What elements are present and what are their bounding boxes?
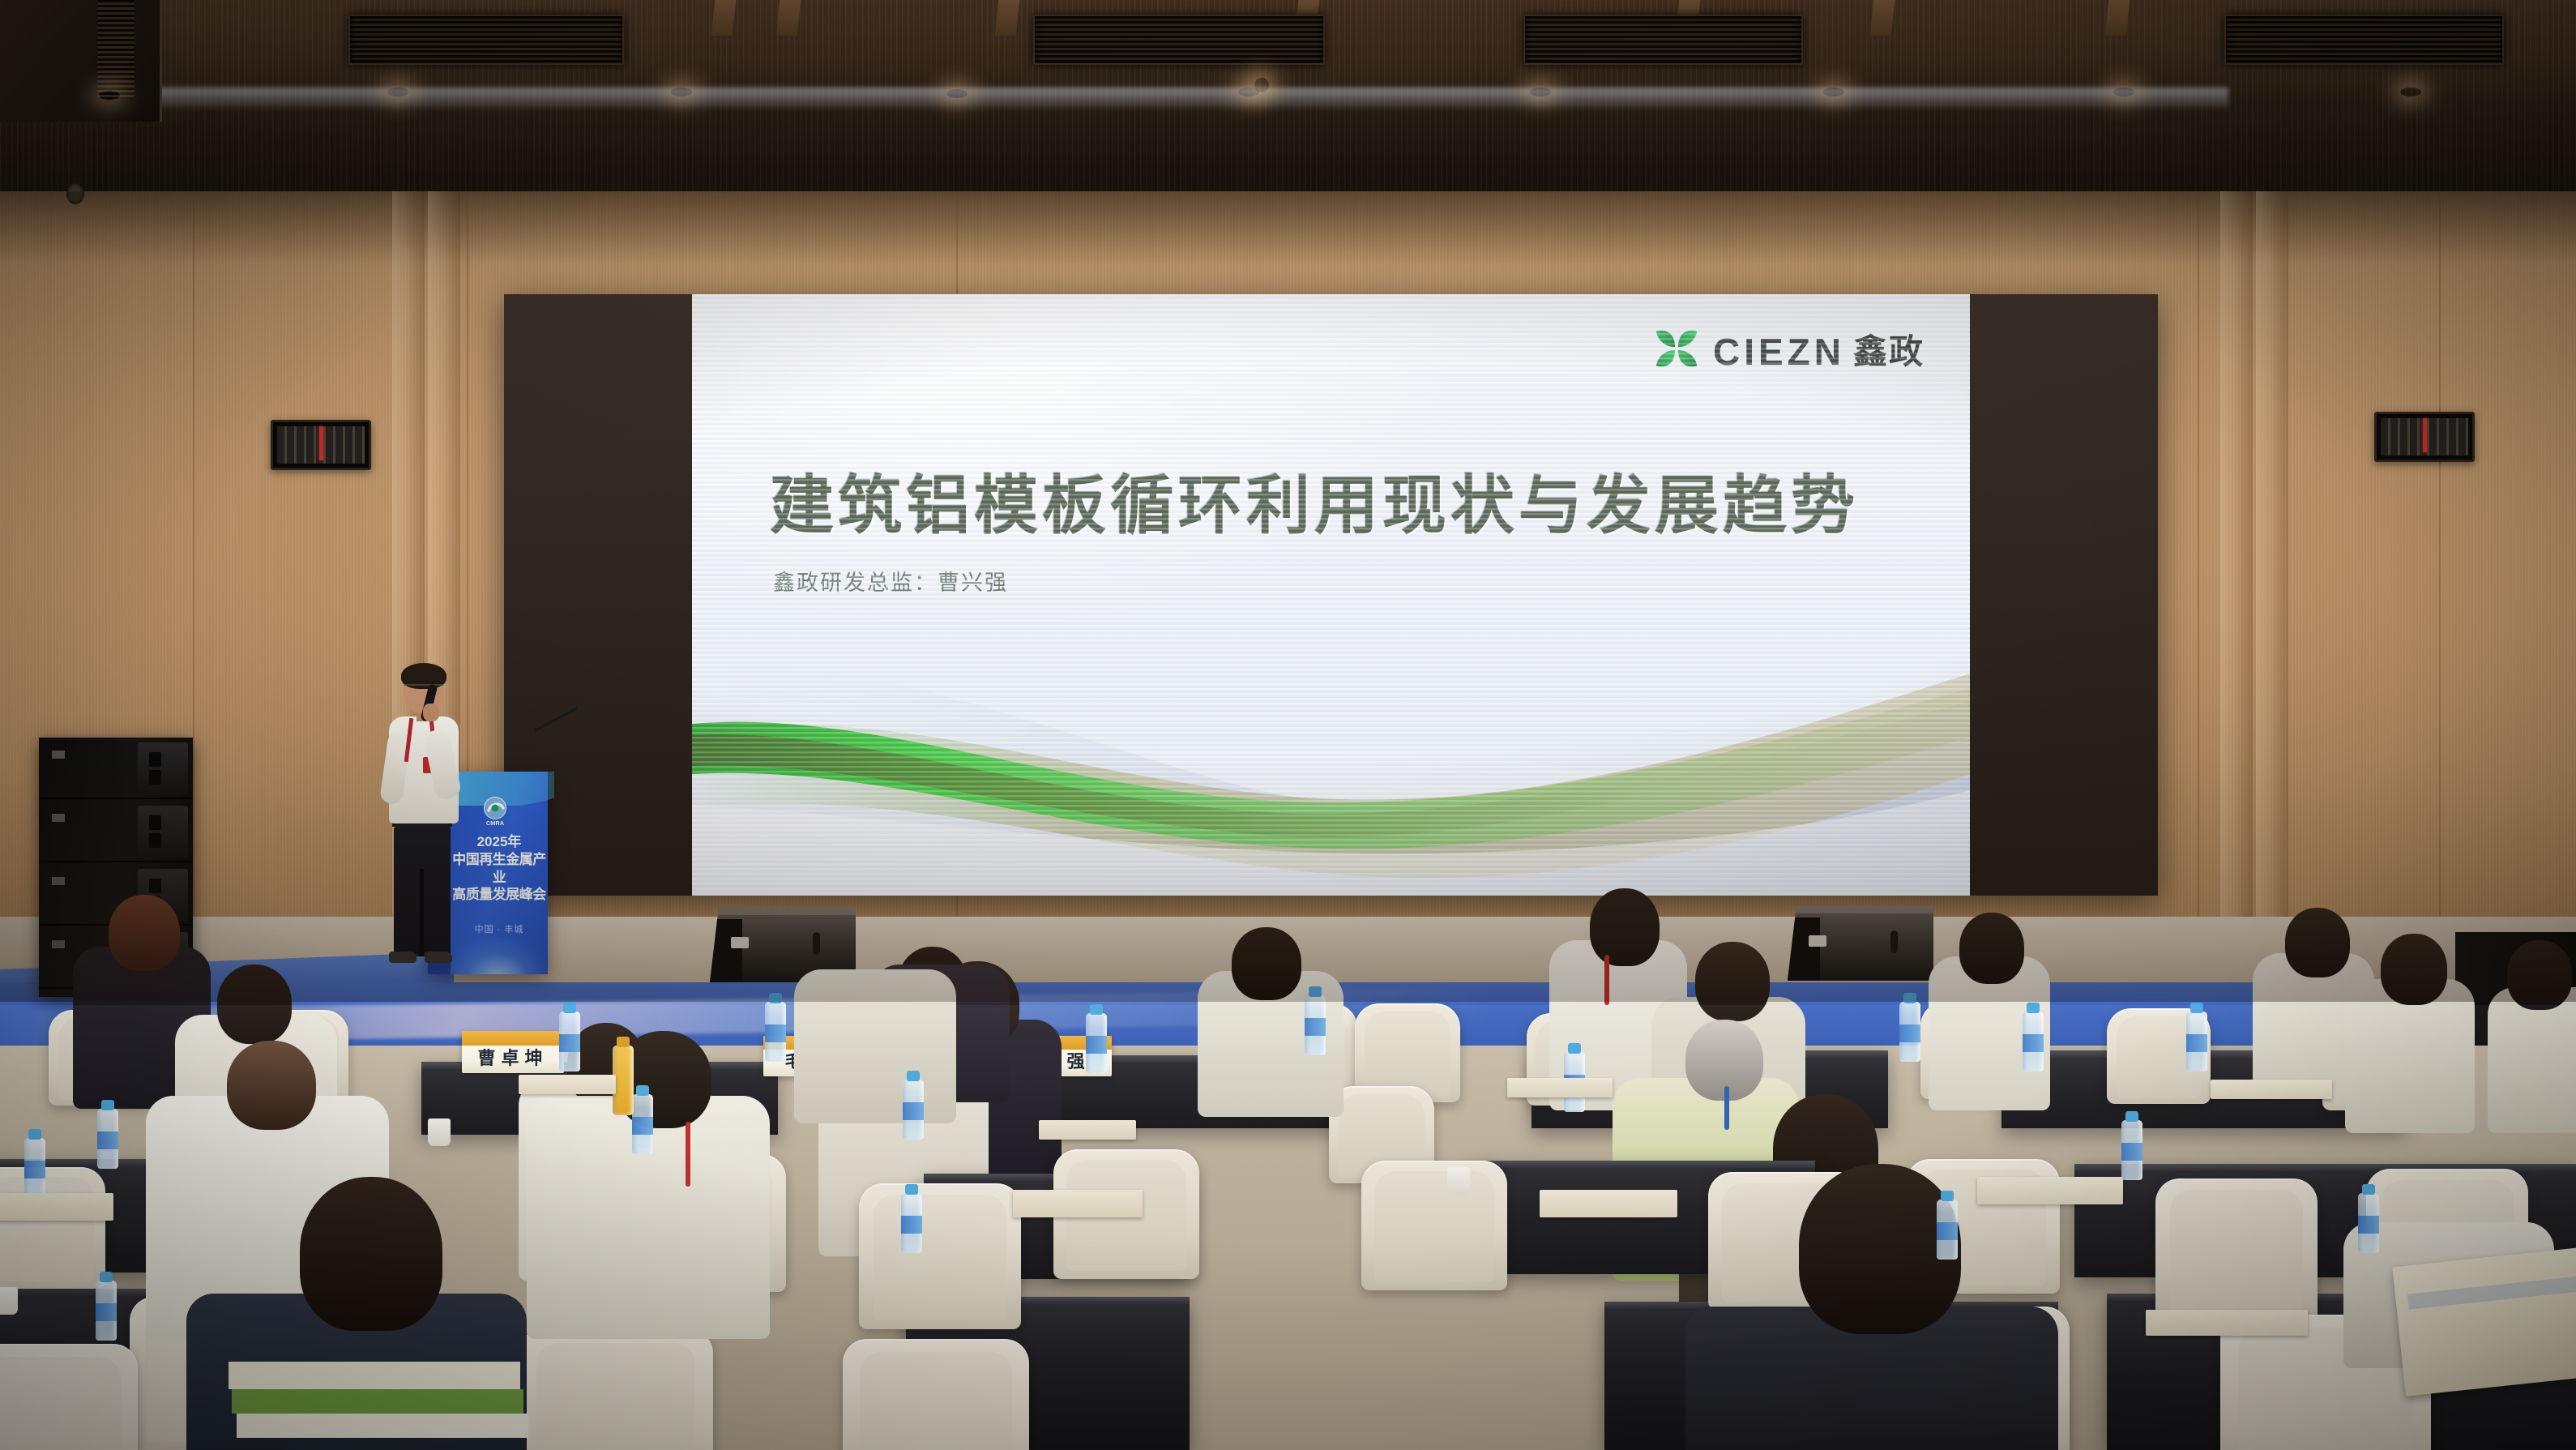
water-bottle <box>765 1002 786 1062</box>
ceiling-downlight <box>99 91 120 100</box>
conference-hall-photo: CIEZN 鑫政 建筑铝模板循环利用现状与发展趋势 鑫政研发总监：曹兴强 CMR… <box>0 0 2576 1450</box>
ceiling-downlight <box>2400 88 2421 96</box>
ceiling-downlight <box>2113 88 2134 96</box>
water-bottle <box>559 1012 580 1071</box>
ceiling-downlight <box>946 89 968 98</box>
ceiling-downlight <box>1530 88 1551 96</box>
striped-shirt-band <box>237 1414 528 1438</box>
ceiling-air-vent <box>1523 15 1803 65</box>
notepad <box>1507 1078 1613 1097</box>
paper-cup <box>0 1287 18 1315</box>
chair <box>843 1339 1029 1450</box>
chair <box>859 1183 1021 1329</box>
name-card-label: 曹卓坤 <box>477 1044 548 1073</box>
water-bottle <box>1937 1200 1958 1260</box>
ceiling-downlight <box>1823 88 1844 96</box>
ceiling-beam <box>1870 0 1895 36</box>
ceiling-downlight <box>387 88 408 96</box>
ceiling-air-vent <box>1033 15 1325 65</box>
striped-shirt-band <box>232 1389 523 1414</box>
notepad <box>1013 1190 1143 1217</box>
water-bottle <box>1305 995 1326 1055</box>
chair <box>0 1344 138 1450</box>
ceiling-cove-light <box>154 88 2228 109</box>
notepad <box>0 1193 113 1221</box>
audience-head <box>300 1177 442 1331</box>
water-bottle <box>903 1080 924 1140</box>
ceiling-beam <box>2105 0 2130 36</box>
water-bottle <box>96 1281 117 1341</box>
ceiling-left-soffit <box>0 0 162 122</box>
ceiling-beam <box>995 0 1020 36</box>
water-bottle <box>97 1109 118 1169</box>
chair <box>519 1329 713 1450</box>
name-card: 曹卓坤 <box>462 1031 564 1073</box>
water-bottle <box>2121 1120 2142 1180</box>
chair <box>2155 1178 2318 1324</box>
conference-folder <box>2392 1246 2576 1396</box>
lanyard <box>686 1122 690 1187</box>
ceiling-grille-icon <box>97 0 135 99</box>
paper-cup <box>1447 1167 1470 1195</box>
water-bottle <box>2023 1012 2044 1071</box>
water-bottle <box>2358 1193 2379 1253</box>
water-bottle <box>2186 1012 2207 1071</box>
ceiling-beam <box>776 0 801 36</box>
ceiling-downlight <box>671 88 692 96</box>
lanyard <box>1724 1086 1729 1130</box>
audience-head <box>227 1041 316 1130</box>
notepad <box>2211 1080 2332 1099</box>
water-bottle <box>901 1193 922 1253</box>
notepad <box>519 1075 616 1094</box>
notepad <box>1540 1190 1677 1217</box>
water-bottle <box>1086 1013 1107 1073</box>
ceiling-smoke-detector-icon <box>1254 78 1269 92</box>
notepad <box>1977 1177 2123 1204</box>
ceiling-air-vent <box>348 15 624 65</box>
striped-shirt-band <box>229 1362 520 1389</box>
water-bottle <box>24 1138 45 1198</box>
water-bottle <box>1899 1002 1920 1062</box>
ceiling-air-vent <box>2224 15 2504 65</box>
wall-vignette <box>0 191 2576 1002</box>
paper-cup <box>428 1119 451 1146</box>
water-bottle <box>632 1094 653 1154</box>
chair <box>1361 1161 1507 1290</box>
notepad <box>2146 1310 2308 1336</box>
chair <box>0 1167 105 1289</box>
ceiling-beam <box>711 0 737 36</box>
notepad <box>1039 1120 1136 1140</box>
